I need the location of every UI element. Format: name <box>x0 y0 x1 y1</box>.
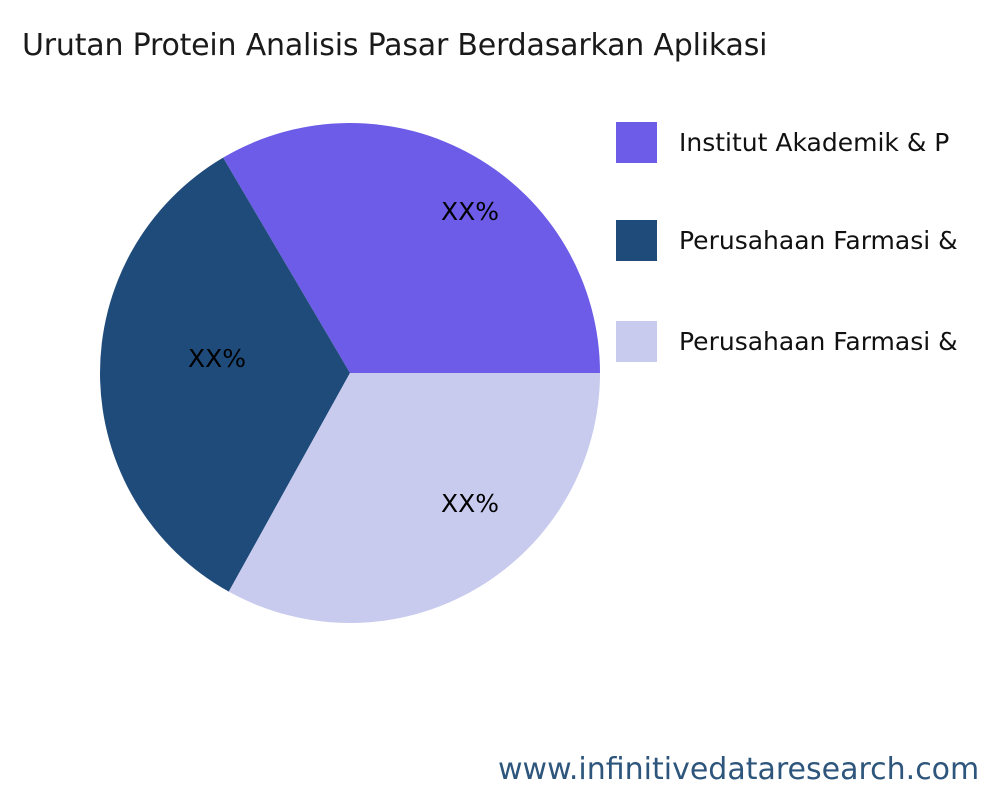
legend-item[interactable]: Perusahaan Farmasi & <box>616 219 958 261</box>
pie-slice-group <box>100 123 600 623</box>
legend-color-swatch <box>616 220 657 261</box>
pie-slice-label-perusahaan-farmasi-lavender: XX% <box>441 197 499 226</box>
source-url[interactable]: www.infinitivedataresearch.com <box>498 752 979 787</box>
legend-color-swatch <box>616 122 657 163</box>
pie-slice-label-perusahaan-farmasi-navy: XX% <box>188 344 246 373</box>
pie-chart-area: XX%XX%XX% <box>100 123 600 623</box>
legend-item[interactable]: Perusahaan Farmasi & <box>616 320 958 362</box>
pie-chart-figure: Urutan Protein Analisis Pasar Berdasarka… <box>0 0 1000 800</box>
legend-item-label: Perusahaan Farmasi & <box>679 327 958 356</box>
legend-color-swatch <box>616 321 657 362</box>
legend: Institut Akademik & PPerusahaan Farmasi … <box>616 115 1000 375</box>
legend-item-label: Institut Akademik & P <box>679 128 949 157</box>
legend-item[interactable]: Institut Akademik & P <box>616 121 949 163</box>
page-title: Urutan Protein Analisis Pasar Berdasarka… <box>22 28 767 63</box>
pie-slice-label-institut-akademik: XX% <box>441 489 499 518</box>
pie-svg: XX%XX%XX% <box>100 123 600 623</box>
legend-item-label: Perusahaan Farmasi & <box>679 226 958 255</box>
